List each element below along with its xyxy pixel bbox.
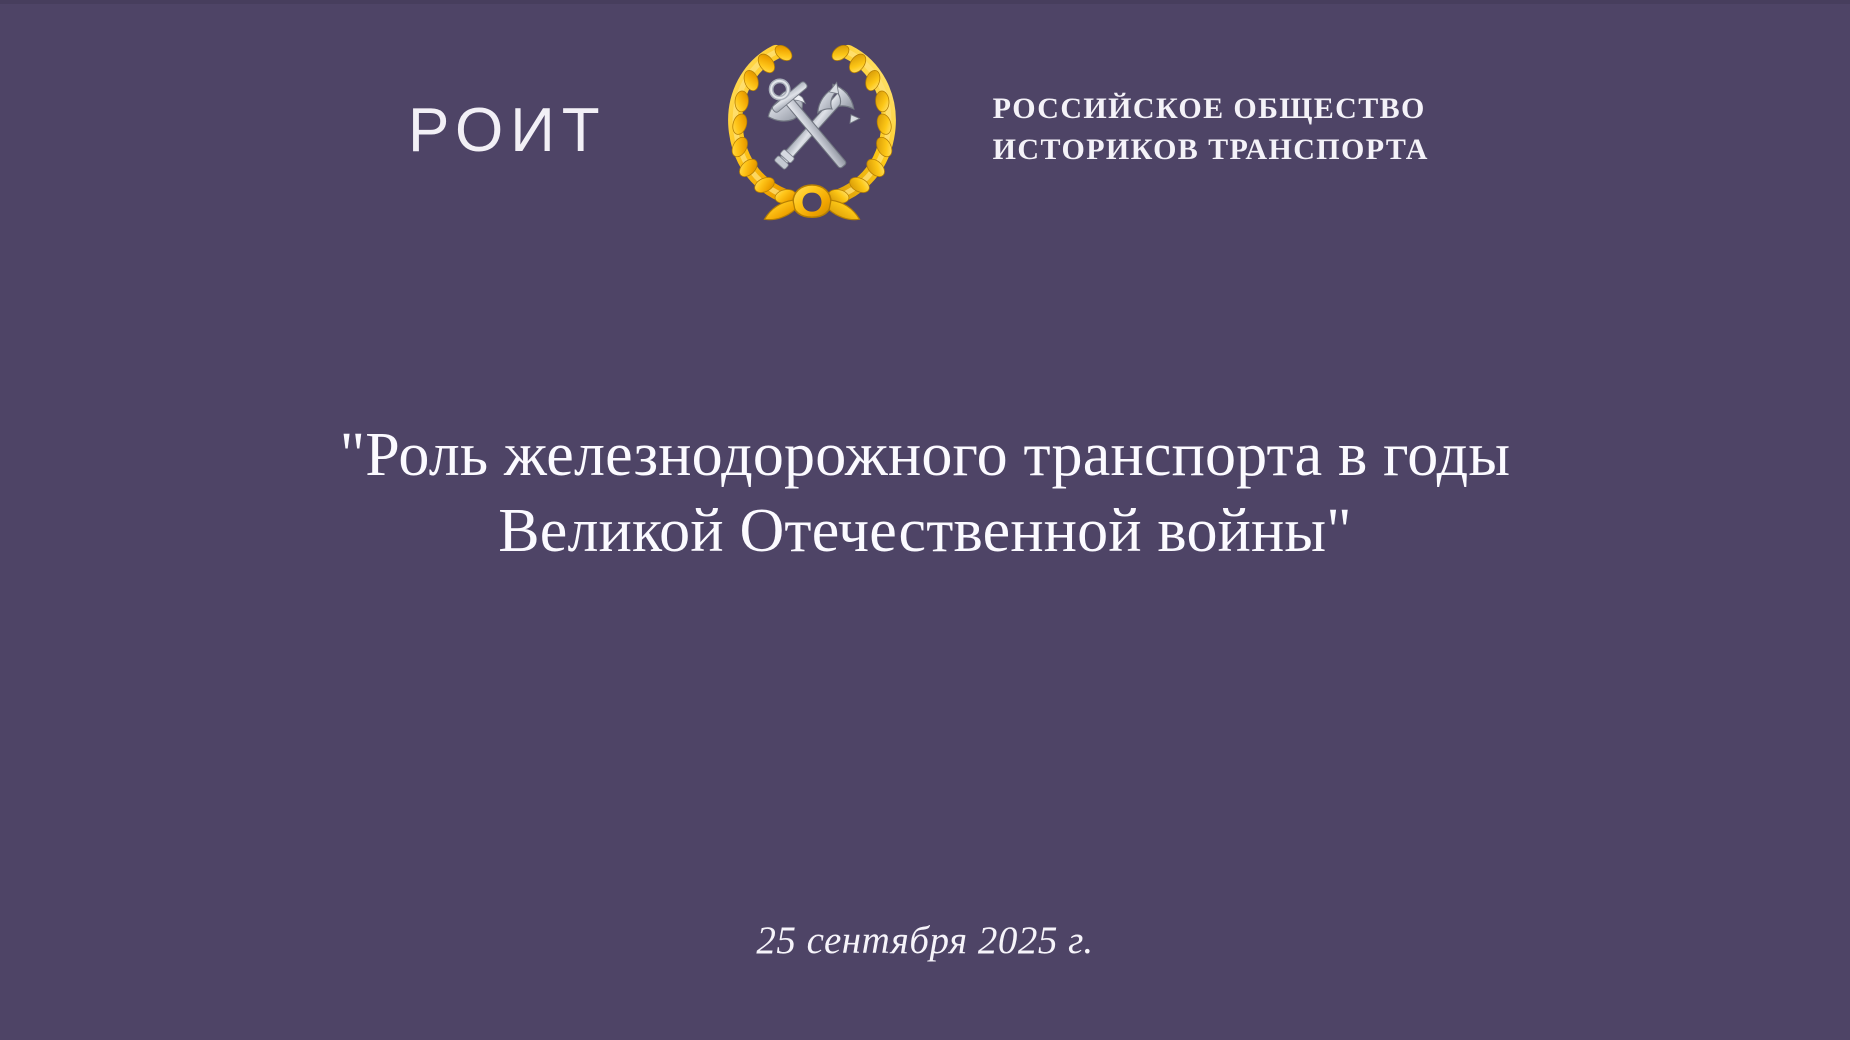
slide-title: "Роль железнодорожного транспорта в годы…: [0, 418, 1850, 569]
slide-date: 25 сентября 2025 г.: [0, 918, 1850, 963]
organization-name-line-1: РОССИЙСКОЕ ОБЩЕСТВО: [993, 88, 1429, 129]
roit-wordmark: РОИТ: [408, 100, 607, 162]
top-edge-band: [0, 0, 1850, 4]
organization-name-line-2: ИСТОРИКОВ ТРАНСПОРТА: [993, 129, 1429, 170]
slide-title-line-1: "Роль железнодорожного транспорта в годы: [0, 418, 1850, 494]
slide-title-line-2: Великой Отечественной войны": [0, 494, 1850, 570]
title-slide: РОИТ: [0, 0, 1850, 1040]
roit-emblem-icon: [717, 33, 907, 223]
organization-name: РОССИЙСКОЕ ОБЩЕСТВО ИСТОРИКОВ ТРАНСПОРТА: [993, 88, 1429, 171]
brand-lockup: РОИТ: [0, 28, 1850, 228]
